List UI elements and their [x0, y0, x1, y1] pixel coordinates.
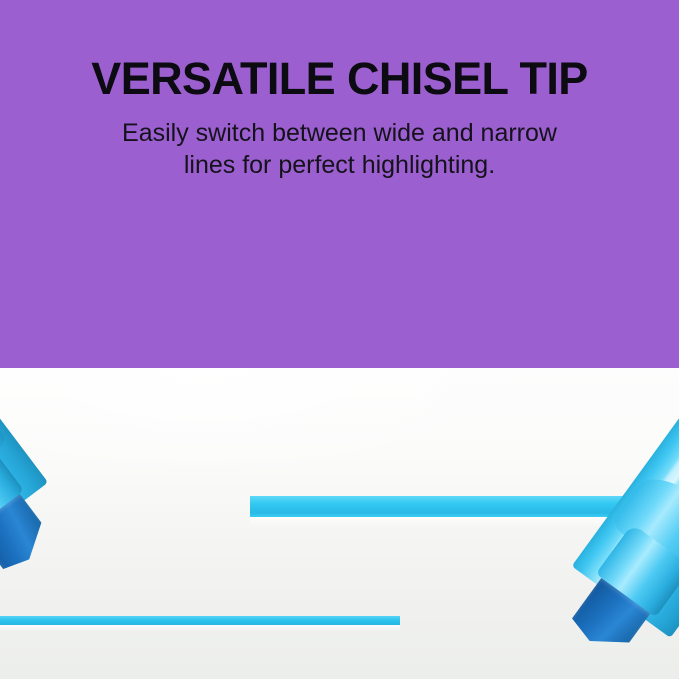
ink-stroke-narrow: [0, 616, 400, 625]
subheadline-line-2: lines for perfect highlighting.: [90, 149, 590, 181]
product-image-scene: HIGHLIGHTER HIGHLIGHTER To VERSATILE CHI…: [0, 0, 679, 679]
marketing-copy: VERSATILE CHISEL TIP Easily switch betwe…: [0, 0, 679, 181]
subheadline-line-1: Easily switch between wide and narrow: [122, 119, 557, 147]
subheadline: Easily switch between wide and narrow li…: [90, 117, 590, 181]
headline: VERSATILE CHISEL TIP: [0, 0, 679, 103]
